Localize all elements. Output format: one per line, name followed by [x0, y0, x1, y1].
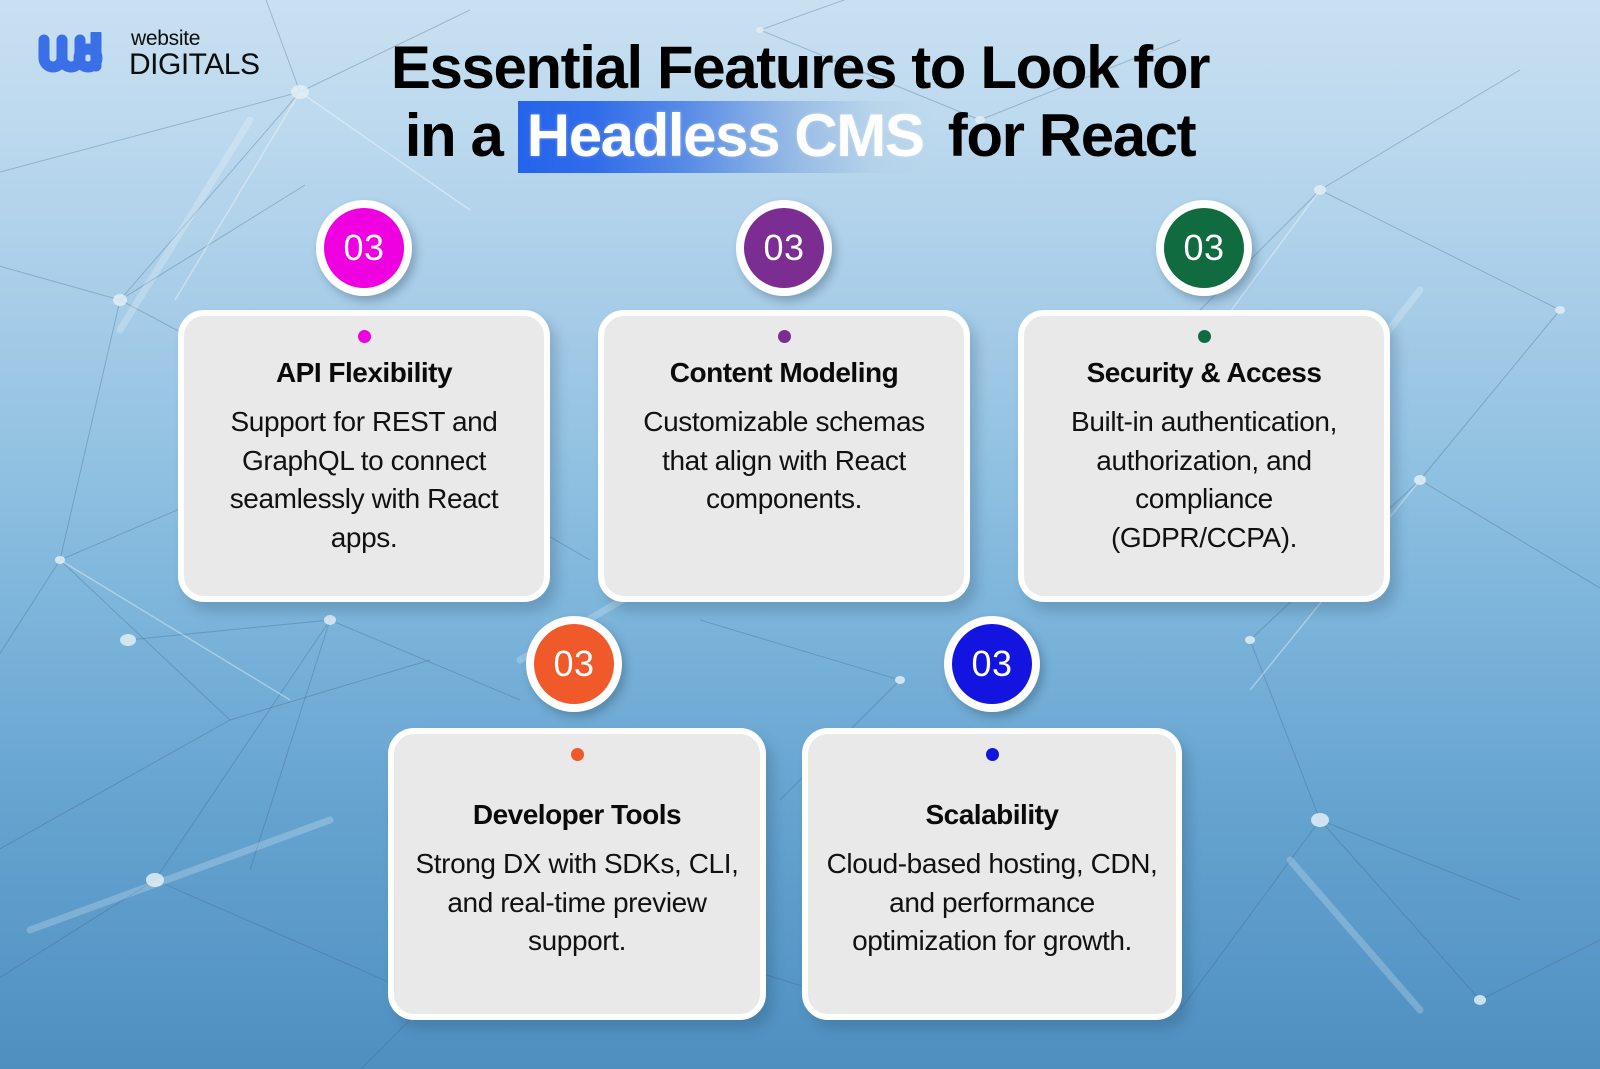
feature-card-developer-tools[interactable]: Developer Tools Strong DX with SDKs, CLI… [388, 728, 766, 1020]
step-number-5: 03 [952, 624, 1032, 704]
feature-card-scalability[interactable]: Scalability Cloud-based hosting, CDN, an… [802, 728, 1182, 1020]
title-highlight: Headless CMS [518, 101, 933, 173]
card-description: Built-in authentication, authorization, … [1040, 403, 1368, 558]
step-badge-5: 03 [944, 616, 1040, 712]
card-accent-dot [571, 748, 584, 761]
feature-card-content-modeling[interactable]: Content Modeling Customizable schemas th… [598, 310, 970, 602]
card-accent-dot [1198, 330, 1211, 343]
step-badge-4: 03 [526, 616, 622, 712]
title-line-1: Essential Features to Look for [0, 34, 1600, 102]
card-description: Cloud-based hosting, CDN, and performanc… [824, 845, 1160, 961]
step-number-2: 03 [744, 208, 824, 288]
step-badge-2: 03 [736, 200, 832, 296]
card-title: API Flexibility [276, 357, 452, 389]
step-badge-1: 03 [316, 200, 412, 296]
infographic-canvas: website DIGITALS Essential Features to L… [0, 0, 1600, 1069]
feature-card-security-access[interactable]: Security & Access Built-in authenticatio… [1018, 310, 1390, 602]
card-accent-dot [986, 748, 999, 761]
card-title: Content Modeling [670, 357, 898, 389]
page-title: Essential Features to Look for in a Head… [0, 34, 1600, 171]
card-description: Support for REST and GraphQL to connect … [200, 403, 528, 558]
step-badge-3: 03 [1156, 200, 1252, 296]
title-suffix: for React [932, 102, 1195, 169]
card-description: Strong DX with SDKs, CLI, and real-time … [410, 845, 744, 961]
step-number-3: 03 [1164, 208, 1244, 288]
title-line-2: in a Headless CMS for React [0, 102, 1600, 170]
card-accent-dot [778, 330, 791, 343]
card-description: Customizable schemas that align with Rea… [620, 403, 948, 519]
step-number-4: 03 [534, 624, 614, 704]
card-accent-dot [358, 330, 371, 343]
card-title: Security & Access [1087, 357, 1322, 389]
card-title: Scalability [925, 799, 1058, 831]
title-prefix: in a [405, 102, 518, 169]
step-number-1: 03 [324, 208, 404, 288]
feature-card-api-flexibility[interactable]: API Flexibility Support for REST and Gra… [178, 310, 550, 602]
card-title: Developer Tools [473, 799, 681, 831]
